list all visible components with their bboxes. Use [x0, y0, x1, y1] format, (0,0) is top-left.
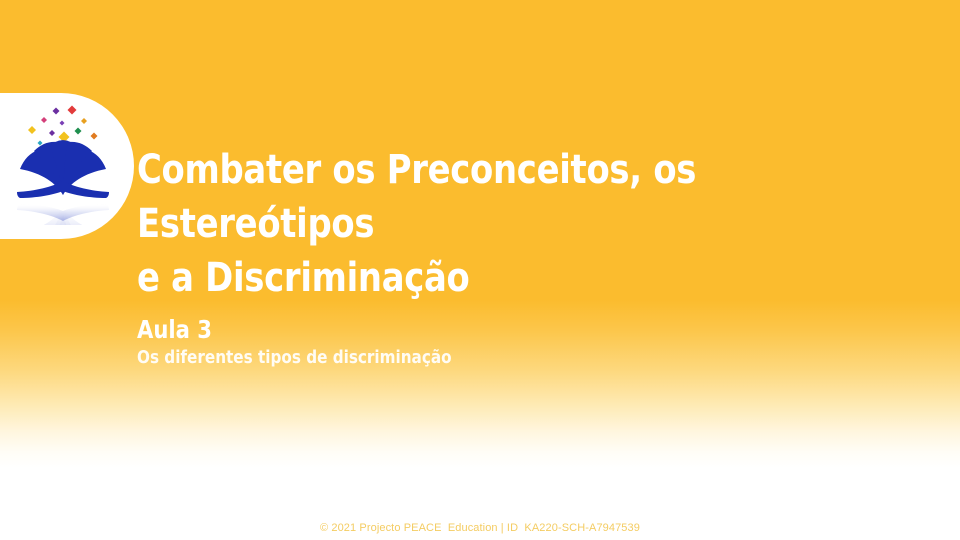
lesson-description: Os diferentes tipos de discriminação [137, 347, 889, 369]
logo-diamond-3 [60, 121, 65, 126]
title-text-block: Combater os Preconceitos, os Estereótipo… [137, 143, 937, 369]
logo-diamond-4 [81, 118, 87, 124]
logo-book-reflection [17, 204, 109, 225]
copyright-footer: © 2021 Projecto PEACE Education | ID KA2… [0, 522, 960, 534]
lesson-number-subtitle: Aula 3 [137, 316, 889, 343]
logo-diamond-5 [28, 126, 36, 134]
page-title: Combater os Preconceitos, os Estereótipo… [137, 143, 889, 305]
logo-diamond-9 [91, 133, 98, 140]
logo-diamond-2 [41, 117, 47, 123]
slide-root: Combater os Preconceitos, os Estereótipo… [0, 0, 960, 540]
logo-diamond-1 [68, 106, 77, 115]
logo-diamond-10 [38, 141, 43, 146]
logo-diamond-7 [75, 128, 82, 135]
peace-education-logo [8, 103, 118, 225]
logo-diamond-6 [49, 130, 55, 136]
logo-diamond-0 [53, 108, 60, 115]
